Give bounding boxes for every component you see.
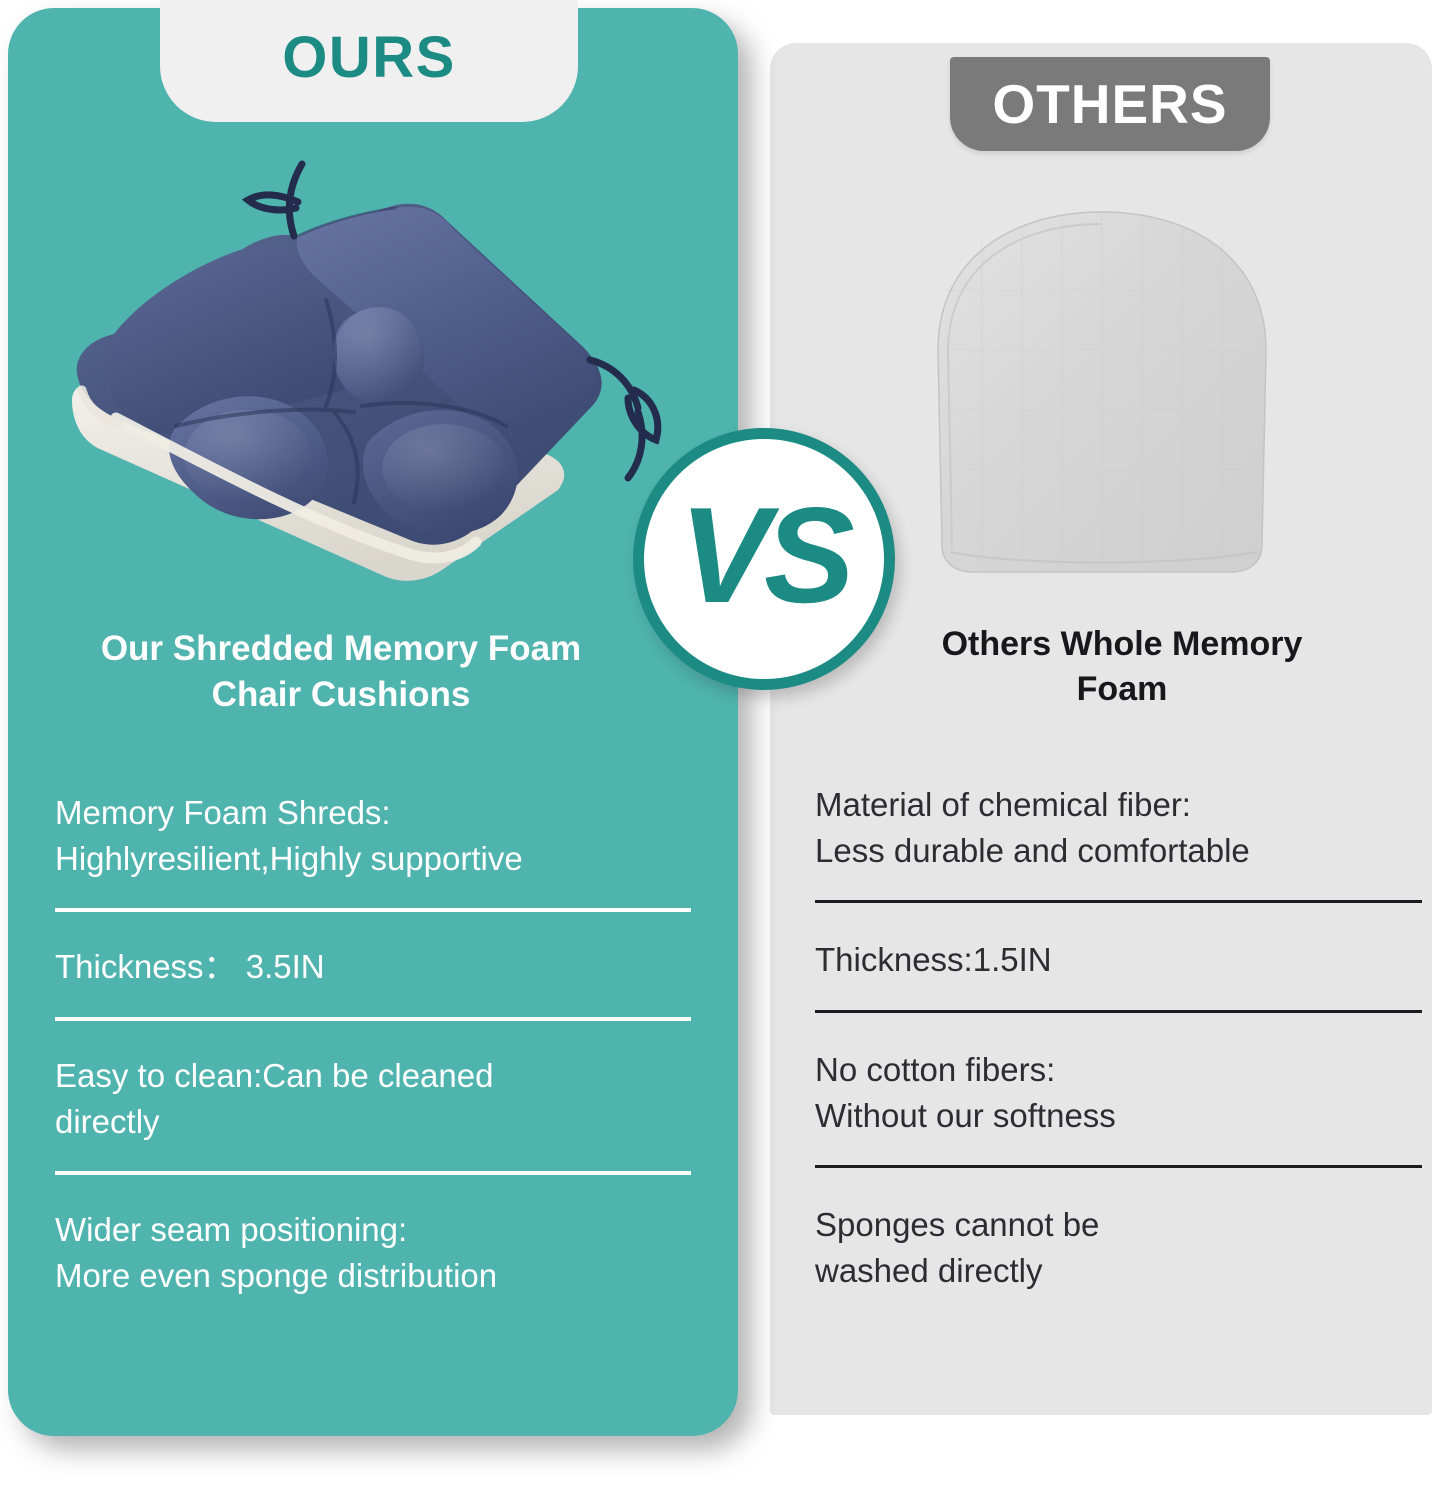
vs-badge: VS (633, 428, 895, 690)
others-feature-3-line-2: washed directly (815, 1248, 1422, 1294)
ours-feature-0-line-1: Memory Foam Shreds: (55, 790, 691, 836)
ours-feature-2-line-1: Easy to clean:Can be cleaned (55, 1053, 691, 1099)
others-feature-0-line-2: Less durable and comfortable (815, 828, 1422, 874)
ours-feature-item: Easy to clean:Can be cleaned directly (55, 1053, 691, 1175)
ours-feature-item: Wider seam positioning: More even sponge… (55, 1207, 691, 1299)
tab-others-label: OTHERS (992, 77, 1227, 132)
ours-feature-2-line-2: directly (55, 1099, 691, 1145)
tab-others[interactable]: OTHERS (950, 57, 1270, 151)
tab-ours-label: OURS (282, 29, 456, 87)
ours-feature-0-line-2: Highlyresilient,Highly supportive (55, 836, 691, 882)
ours-product-title: Our Shredded Memory Foam Chair Cushions (34, 626, 648, 717)
others-feature-0-line-1: Material of chemical fiber: (815, 782, 1422, 828)
ours-feature-list: Memory Foam Shreds: Highlyresilient,High… (55, 790, 691, 1299)
others-title-line-1: Others Whole Memory (872, 622, 1372, 667)
ours-feature-item: Thickness： 3.5IN (55, 944, 691, 1020)
ours-title-line-1: Our Shredded Memory Foam (34, 626, 648, 672)
others-feature-2-line-1: No cotton fibers: (815, 1047, 1422, 1093)
ours-feature-3-line-2: More even sponge distribution (55, 1253, 691, 1299)
others-title-line-2: Foam (872, 667, 1372, 712)
others-feature-list: Material of chemical fiber: Less durable… (815, 782, 1422, 1294)
ours-product-image (62, 150, 702, 610)
vs-label: VS (679, 487, 848, 623)
others-feature-3-line-1: Sponges cannot be (815, 1202, 1422, 1248)
tab-ours[interactable]: OURS (160, 0, 578, 122)
others-feature-item: Thickness:1.5IN (815, 937, 1422, 1012)
ours-feature-item: Memory Foam Shreds: Highlyresilient,High… (55, 790, 691, 912)
others-feature-1-line-1: Thickness:1.5IN (815, 937, 1422, 983)
ours-title-line-2: Chair Cushions (34, 672, 648, 718)
others-product-image (912, 200, 1292, 590)
ours-feature-3-line-1: Wider seam positioning: (55, 1207, 691, 1253)
others-feature-2-line-2: Without our softness (815, 1093, 1422, 1139)
others-feature-item: No cotton fibers: Without our softness (815, 1047, 1422, 1168)
comparison-infographic: OTHERS Others Whole Memory Foam Material… (0, 0, 1447, 1500)
others-product-title: Others Whole Memory Foam (872, 622, 1372, 712)
ours-feature-1-line-1: Thickness： 3.5IN (55, 944, 691, 990)
others-feature-item: Material of chemical fiber: Less durable… (815, 782, 1422, 903)
others-feature-item: Sponges cannot be washed directly (815, 1202, 1422, 1294)
